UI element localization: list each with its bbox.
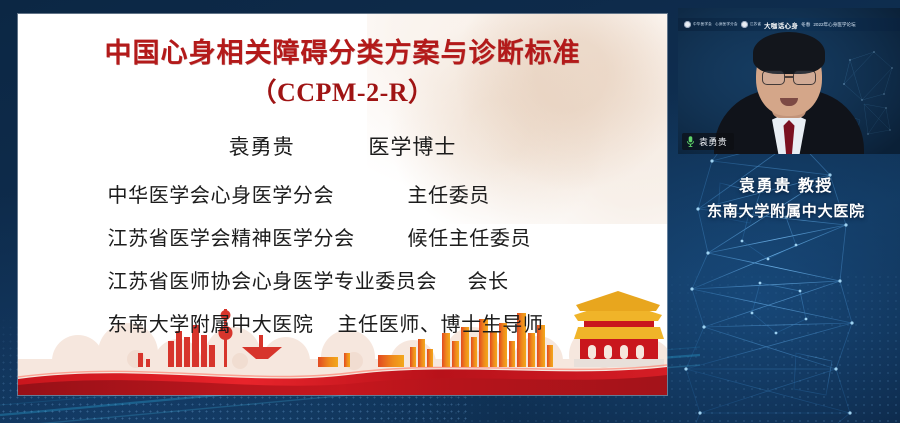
role-org: 江苏省医师协会心身医学专业委员会 [108,265,468,294]
participant-name: 袁勇贵 [699,135,727,148]
caption-line-2: 东南大学附属中大医院 [672,200,900,221]
speaker-byline: 袁勇贵 医学博士 [18,131,667,161]
role-position: 候任主任委员 [408,222,578,251]
event-banner: 中华医学会 心身医学分会 江苏省 大咖话心身 冬春 2022年心身医学论坛 [678,18,900,31]
webinar-stage: 中国心身相关障碍分类方案与诊断标准 （CCPM-2-R） 袁勇贵 医学博士 中华… [0,0,900,423]
speaker-hair [753,32,825,74]
role-row: 江苏省医师协会心身医学专业委员会 会长 [18,265,667,294]
speaker-caption: 袁勇贵 教授 东南大学附属中大医院 [672,172,900,221]
role-row: 江苏省医学会精神医学分会 候任主任委员 [18,222,667,251]
role-position: 主任委员 [408,179,578,208]
role-org: 江苏省医学会精神医学分会 [108,222,408,251]
org-logo-1: 中华医学会 [684,21,712,28]
event-title: 大咖话心身 [764,20,798,30]
role-position: 主任医师、博士生导师 [338,308,578,337]
org-logo-3-label: 江苏省 [750,23,761,27]
org-logo-mark-icon [741,21,748,28]
role-org: 中华医学会心身医学分会 [108,179,408,208]
speaker-name: 袁勇贵 [229,136,295,159]
role-position: 会长 [468,265,578,294]
org-logo-2-label: 心身医学分会 [715,23,738,27]
glasses-left-lens-icon [762,70,785,85]
org-logo-3: 江苏省 [741,21,761,28]
participant-name-chip[interactable]: 袁勇贵 [682,133,734,150]
microphone-icon[interactable] [686,135,695,148]
slide-content: 中国心身相关障碍分类方案与诊断标准 （CCPM-2-R） 袁勇贵 医学博士 中华… [18,14,667,337]
event-tag: 冬春 [801,22,810,28]
slide-title: 中国心身相关障碍分类方案与诊断标准 [18,38,667,70]
role-org: 东南大学附属中大医院 [108,308,338,337]
role-row: 东南大学附属中大医院 主任医师、博士生导师 [18,308,667,337]
glasses-bridge-icon [785,76,793,78]
event-subtitle: 2022年心身医学论坛 [813,22,855,28]
speaker-video-tile[interactable]: 中华医学会 心身医学分会 江苏省 大咖话心身 冬春 2022年心身医学论坛 袁勇… [678,8,900,154]
org-logo-1-label: 中华医学会 [693,23,712,27]
slide-subtitle: （CCPM-2-R） [18,72,667,109]
speaker-degree: 医学博士 [368,136,456,159]
caption-line-1: 袁勇贵 教授 [672,172,900,196]
org-logo-mark-icon [684,21,691,28]
presentation-slide[interactable]: 中国心身相关障碍分类方案与诊断标准 （CCPM-2-R） 袁勇贵 医学博士 中华… [18,14,667,395]
glasses-right-lens-icon [793,70,816,85]
role-row: 中华医学会心身医学分会 主任委员 [18,179,667,208]
